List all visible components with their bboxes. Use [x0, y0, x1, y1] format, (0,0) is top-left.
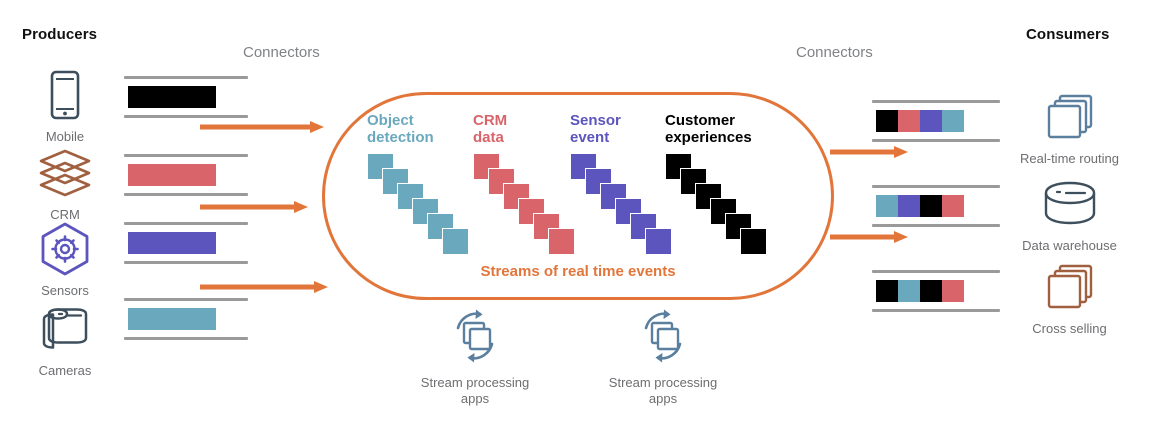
pipeline-cells — [124, 76, 220, 118]
pipeline-cell — [876, 110, 898, 132]
pipeline-cell — [920, 280, 942, 302]
stream-title: Sensor event — [570, 113, 621, 147]
refresh-windows-icon — [446, 308, 504, 369]
connectors-left-heading: Connectors — [243, 44, 320, 61]
pipeline-cell — [194, 86, 216, 108]
stream-customer-experiences: Customer experiences — [665, 113, 765, 253]
real-time-routing-pipeline — [872, 100, 1000, 142]
mobile-phone-icon — [36, 66, 94, 124]
pipeline-cell — [128, 164, 150, 186]
producer-node-mobile: Mobile — [36, 66, 94, 144]
consumer-node-cross-selling: Cross selling — [1012, 258, 1127, 336]
pipeline-cell — [942, 110, 964, 132]
stream-title: Object detection — [367, 113, 434, 147]
pipeline-cells — [124, 298, 220, 340]
pipeline-cell — [920, 195, 942, 217]
pipeline-cell — [150, 232, 172, 254]
layers-stack-icon — [36, 144, 94, 202]
pipeline-cell — [128, 86, 150, 108]
stream-title: CRM data — [473, 113, 507, 147]
stacked-squares-icon — [1041, 258, 1099, 316]
pipeline-cell — [898, 195, 920, 217]
stream-event-stack — [367, 153, 467, 253]
producer-label: Mobile — [46, 129, 84, 144]
inbound-arrow-mobile — [200, 120, 326, 134]
stream-crm-data: CRM data — [473, 113, 573, 253]
consumer-label: Cross selling — [1032, 321, 1106, 336]
stream-event-stack — [570, 153, 670, 253]
mobile-pipeline — [124, 76, 248, 118]
pipeline-cell — [194, 308, 216, 330]
stream-processing-app-label: Stream processing apps — [421, 375, 529, 408]
pipeline-cell — [942, 280, 964, 302]
inbound-arrow-crm — [200, 200, 310, 214]
pipeline-cell — [920, 110, 942, 132]
streams-capsule: Object detection CRM data Sens — [322, 92, 834, 300]
stream-event-stack — [665, 153, 765, 253]
consumers-heading: Consumers — [1026, 26, 1109, 43]
inbound-arrow-sensors — [200, 280, 330, 294]
stream-processing-app-right: Stream processing apps — [588, 308, 738, 408]
pipeline-cell — [942, 195, 964, 217]
pipeline-cells — [124, 154, 220, 196]
pipeline-cell — [898, 110, 920, 132]
stream-processing-app-label: Stream processing apps — [609, 375, 717, 408]
stacked-squares-icon — [1041, 88, 1099, 146]
sensors-pipeline — [124, 222, 248, 264]
pipeline-cell — [172, 308, 194, 330]
pipeline-cell — [128, 232, 150, 254]
pipeline-cell — [150, 308, 172, 330]
crm-pipeline — [124, 154, 248, 196]
pipeline-cell — [898, 280, 920, 302]
stream-event-stack — [473, 153, 573, 253]
connectors-right-heading: Connectors — [796, 44, 873, 61]
producer-label: Sensors — [41, 283, 89, 298]
pipeline-cell — [876, 195, 898, 217]
producer-label: Cameras — [39, 363, 92, 378]
streams-caption: Streams of real time events — [325, 263, 831, 280]
stream-title: Customer experiences — [665, 113, 752, 147]
architecture-diagram: Producers Connectors Connectors Consumer… — [0, 0, 1160, 440]
producer-node-crm: CRM — [36, 144, 94, 222]
database-cylinder-icon — [1041, 175, 1099, 233]
cross-selling-pipeline — [872, 270, 1000, 312]
consumer-label: Real-time routing — [1020, 151, 1119, 166]
stream-event — [740, 228, 767, 255]
stream-sensor-event: Sensor event — [570, 113, 670, 253]
consumer-label: Data warehouse — [1022, 238, 1117, 253]
pipeline-cells — [872, 185, 968, 227]
producers-heading: Producers — [22, 26, 97, 43]
pipeline-cell — [172, 232, 194, 254]
pipeline-cell — [172, 86, 194, 108]
pipeline-cells — [872, 270, 968, 312]
pipeline-cell — [172, 164, 194, 186]
refresh-windows-icon — [634, 308, 692, 369]
pipeline-cells — [124, 222, 220, 264]
pipeline-cell — [150, 164, 172, 186]
outbound-arrow-warehouse — [830, 230, 910, 244]
camera-cylinder-icon — [36, 300, 94, 358]
consumer-node-data-warehouse: Data warehouse — [1012, 175, 1127, 253]
stream-processing-app-left: Stream processing apps — [400, 308, 550, 408]
pipeline-cell — [150, 86, 172, 108]
cameras-pipeline — [124, 298, 248, 340]
outbound-arrow-routing — [830, 145, 910, 159]
hexagon-gear-icon — [36, 220, 94, 278]
pipeline-cells — [872, 100, 968, 142]
pipeline-cell — [128, 308, 150, 330]
pipeline-cell — [876, 280, 898, 302]
data-warehouse-pipeline — [872, 185, 1000, 227]
pipeline-cell — [194, 164, 216, 186]
stream-object-detection: Object detection — [367, 113, 467, 253]
pipeline-cell — [194, 232, 216, 254]
consumer-node-real-time-routing: Real-time routing — [1012, 88, 1127, 166]
stream-event — [442, 228, 469, 255]
producer-node-cameras: Cameras — [36, 300, 94, 378]
producer-node-sensors: Sensors — [36, 220, 94, 298]
